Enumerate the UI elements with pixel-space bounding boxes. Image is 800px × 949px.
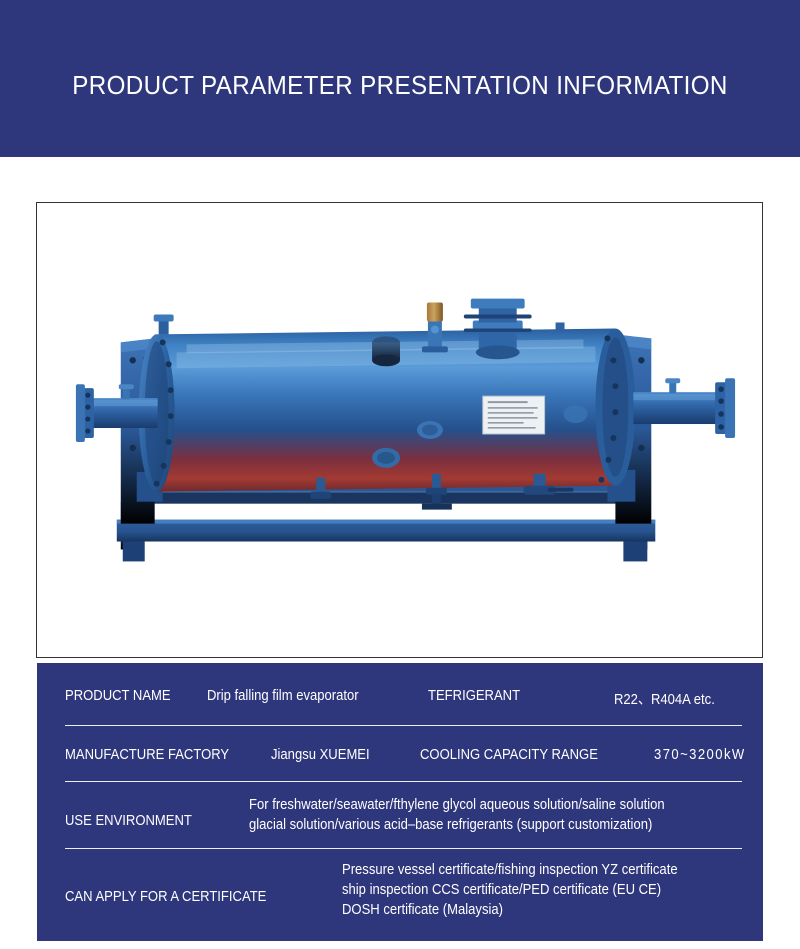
table-row: CAN APPLY FOR A CERTIFICATE Pressure ves…: [37, 848, 763, 941]
table-row: USE ENVIRONMENT For freshwater/seawater/…: [37, 781, 763, 849]
row-label-product-name: PRODUCT NAME: [65, 688, 171, 704]
row-label-manufacture-factory: MANUFACTURE FACTORY: [65, 747, 229, 763]
row-value-certificate: Pressure vessel certificate/fishing insp…: [342, 860, 678, 920]
row-value-product-name: Drip falling film evaporator: [207, 688, 359, 704]
row-label-certificate: CAN APPLY FOR A CERTIFICATE: [65, 889, 266, 905]
table-row: PRODUCT NAME Drip falling film evaporato…: [37, 663, 763, 718]
header-banner: PRODUCT PARAMETER PRESENTATION INFORMATI…: [0, 0, 800, 157]
row-value-cooling-capacity-range: 370~3200kW: [654, 747, 746, 763]
product-photo-evaporator: [37, 203, 762, 657]
page-title: PRODUCT PARAMETER PRESENTATION INFORMATI…: [28, 0, 772, 157]
row-label-cooling-capacity-range: COOLING CAPACITY RANGE: [420, 747, 598, 763]
product-image-frame: [36, 202, 763, 658]
row-value-manufacture-factory: Jiangsu XUEMEI: [271, 747, 370, 763]
nameplate-label: [483, 396, 545, 434]
row-value-use-environment: For freshwater/seawater/fthylene glycol …: [249, 795, 665, 835]
spec-table-panel: PRODUCT NAME Drip falling film evaporato…: [37, 663, 763, 941]
row-label-use-environment: USE ENVIRONMENT: [65, 813, 192, 829]
table-row: MANUFACTURE FACTORY Jiangsu XUEMEI COOLI…: [37, 725, 763, 777]
row-value-refrigerant: R22、R404A etc.: [614, 688, 715, 709]
row-label-refrigerant: TEFRIGERANT: [428, 688, 520, 704]
